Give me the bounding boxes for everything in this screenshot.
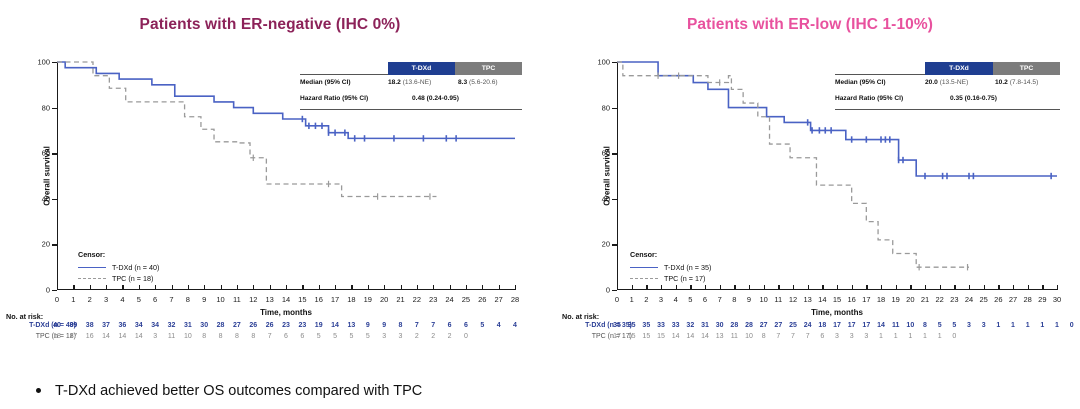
- x-axis-tick: [401, 285, 402, 290]
- x-axis-tick: [73, 285, 74, 290]
- risk-value-tpc: 17: [613, 333, 621, 340]
- x-axis-tick: [632, 285, 633, 290]
- x-axis-tick: [764, 285, 765, 290]
- risk-value-tpc: 6: [284, 333, 288, 340]
- stats-value-hazard-ratio: 0.35 (0.16-0.75): [950, 95, 997, 102]
- risk-value-tdxd: 1: [996, 322, 1000, 329]
- risk-value-tpc: 14: [102, 333, 110, 340]
- x-axis-tick-label: 18: [347, 295, 355, 304]
- x-axis-tick-label: 12: [249, 295, 257, 304]
- slide-root: Patients with ER-negative (IHC 0%) Overa…: [0, 0, 1080, 409]
- x-axis-tick: [319, 285, 320, 290]
- stats-header-row: T-DXd TPC: [300, 62, 522, 75]
- risk-value-tdxd: 17: [862, 322, 870, 329]
- x-axis-tick-label: 4: [120, 295, 124, 304]
- risk-value-tpc: 13: [716, 333, 724, 340]
- risk-table-er-negative: No. at risk: T-DXd (n = 40) 403938373634…: [4, 312, 534, 344]
- x-axis-tick-label: 2: [644, 295, 648, 304]
- risk-value-tdxd: 1: [1011, 322, 1015, 329]
- risk-row-tpc: TPC (n = 18) 181716141414311108888766555…: [4, 333, 534, 344]
- risk-table-title: No. at risk:: [4, 312, 534, 321]
- page-title-er-low: Patients with ER-low (IHC 1-10%): [540, 16, 1080, 34]
- risk-value-tpc: 6: [820, 333, 824, 340]
- x-axis-tick: [302, 285, 303, 290]
- risk-value-tdxd: 30: [716, 322, 724, 329]
- x-axis-tick: [734, 285, 735, 290]
- risk-value-tdxd: 27: [233, 322, 241, 329]
- y-axis-tick: [612, 153, 617, 154]
- stats-label-hazard-ratio: Hazard Ratio (95% CI): [835, 95, 903, 102]
- risk-value-tpc: 5: [366, 333, 370, 340]
- stats-value-median-tpc: 10.2 (7.8-14.5): [995, 79, 1038, 86]
- x-axis-tick-label: 10: [759, 295, 767, 304]
- risk-value-tdxd: 14: [877, 322, 885, 329]
- risk-value-tpc: 14: [686, 333, 694, 340]
- x-axis-tick: [940, 285, 941, 290]
- x-axis-tick-label: 15: [833, 295, 841, 304]
- x-axis-tick: [998, 285, 999, 290]
- risk-value-tpc: 3: [850, 333, 854, 340]
- y-axis-tick: [52, 199, 57, 200]
- x-axis-tick: [351, 285, 352, 290]
- risk-value-tdxd: 18: [818, 322, 826, 329]
- stats-table-er-negative: T-DXd TPC Median (95% CI) 18.2 (13.6-NE)…: [300, 62, 522, 110]
- x-axis-tick: [705, 285, 706, 290]
- risk-value-tdxd: 13: [348, 322, 356, 329]
- risk-value-tpc: 3: [382, 333, 386, 340]
- y-axis-tick: [612, 62, 617, 63]
- x-axis-tick: [253, 285, 254, 290]
- x-axis-tick-label: 3: [659, 295, 663, 304]
- x-axis-tick: [286, 285, 287, 290]
- risk-value-tpc: 0: [464, 333, 468, 340]
- x-axis-tick-label: 1: [630, 295, 634, 304]
- x-axis-tick-label: 0: [55, 295, 59, 304]
- x-axis-tick-label: 29: [1038, 295, 1046, 304]
- stats-bottom-rule: [835, 109, 1060, 110]
- risk-value-tdxd: 37: [102, 322, 110, 329]
- x-axis-tick: [417, 285, 418, 290]
- x-axis-tick: [384, 285, 385, 290]
- x-axis-tick-label: 10: [216, 295, 224, 304]
- x-axis-tick-label: 15: [298, 295, 306, 304]
- x-axis-tick: [237, 285, 238, 290]
- risk-value-tdxd: 6: [448, 322, 452, 329]
- risk-value-tdxd: 26: [249, 322, 257, 329]
- risk-value-tdxd: 31: [184, 322, 192, 329]
- x-axis-tick: [1028, 285, 1029, 290]
- solid-line-icon: [78, 267, 106, 269]
- risk-label-tdxd: T-DXd (n = 40): [4, 322, 76, 329]
- risk-label-tdxd: T-DXd (n = 35): [560, 322, 632, 329]
- x-axis-tick-label: 16: [315, 295, 323, 304]
- risk-value-tdxd: 34: [151, 322, 159, 329]
- risk-value-tdxd: 35: [642, 322, 650, 329]
- x-axis-tick: [433, 285, 434, 290]
- risk-value-tdxd: 6: [464, 322, 468, 329]
- x-axis-tick-label: 24: [445, 295, 453, 304]
- x-axis-tick: [499, 285, 500, 290]
- risk-value-tdxd: 31: [701, 322, 709, 329]
- x-axis-tick-label: 11: [233, 295, 241, 304]
- x-axis-tick: [778, 285, 779, 290]
- x-axis-tick-label: 16: [847, 295, 855, 304]
- dashed-line-icon: [630, 278, 658, 279]
- x-axis-tick-label: 2: [88, 295, 92, 304]
- risk-value-tpc: 15: [642, 333, 650, 340]
- risk-value-tpc: 2: [448, 333, 452, 340]
- median-tpc-ci: (5.6-20.6): [469, 79, 498, 86]
- x-axis-tick: [155, 285, 156, 290]
- bullet-dot-icon: [36, 388, 41, 393]
- risk-value-tpc: 14: [135, 333, 143, 340]
- risk-value-tdxd: 24: [804, 322, 812, 329]
- stats-table-er-low: T-DXd TPC Median (95% CI) 20.0 (13.5-NE)…: [835, 62, 1060, 110]
- stats-label-hazard-ratio: Hazard Ratio (95% CI): [300, 95, 368, 102]
- risk-value-tdxd: 1: [1026, 322, 1030, 329]
- x-axis-tick: [221, 285, 222, 290]
- y-axis-tick-label: 40: [42, 194, 50, 203]
- legend-item-tpc: TPC (n = 18): [78, 273, 159, 284]
- x-axis-tick: [793, 285, 794, 290]
- x-axis-tick: [368, 285, 369, 290]
- risk-value-tpc: 8: [235, 333, 239, 340]
- y-axis-tick-label: 0: [606, 286, 610, 295]
- risk-value-tpc: 1: [908, 333, 912, 340]
- x-axis-tick: [1042, 285, 1043, 290]
- risk-row-tdxd: T-DXd (n = 40) 4039383736343432313028272…: [4, 322, 534, 333]
- dashed-line-icon: [78, 278, 106, 279]
- summary-bullet-text: T-DXd achieved better OS outcomes compar…: [55, 383, 422, 399]
- risk-value-tpc: 3: [835, 333, 839, 340]
- y-axis-tick: [52, 244, 57, 245]
- x-axis-tick: [122, 285, 123, 290]
- risk-value-tdxd: 27: [760, 322, 768, 329]
- risk-value-tdxd: 30: [200, 322, 208, 329]
- risk-value-tdxd: 1: [1055, 322, 1059, 329]
- x-axis-tick: [482, 285, 483, 290]
- median-tdxd-number: 20.0: [925, 79, 938, 86]
- risk-value-tpc: 3: [153, 333, 157, 340]
- y-axis-tick-label: 20: [602, 240, 610, 249]
- risk-value-tpc: 11: [731, 333, 738, 340]
- x-axis-tick-label: 18: [877, 295, 885, 304]
- risk-value-tdxd: 9: [382, 322, 386, 329]
- risk-value-tdxd: 26: [266, 322, 274, 329]
- x-axis-tick: [106, 285, 107, 290]
- risk-value-tdxd: 4: [497, 322, 501, 329]
- x-axis-tick: [910, 285, 911, 290]
- x-axis-tick: [646, 285, 647, 290]
- legend-item-tdxd: T-DXd (n = 35): [630, 262, 711, 273]
- risk-value-tdxd: 8: [923, 322, 927, 329]
- censor-legend-title: Censor:: [78, 250, 159, 259]
- x-axis-tick-label: 9: [202, 295, 206, 304]
- risk-value-tpc: 7: [806, 333, 810, 340]
- risk-table-title: No. at risk:: [560, 312, 1076, 321]
- risk-value-tdxd: 34: [135, 322, 143, 329]
- y-axis-tick-label: 0: [46, 286, 50, 295]
- median-tpc-number: 8.3: [458, 79, 467, 86]
- x-axis-tick: [617, 285, 618, 290]
- risk-value-tdxd: 5: [480, 322, 484, 329]
- risk-value-tdxd: 17: [848, 322, 856, 329]
- risk-label-tpc: TPC (n = 18): [4, 333, 76, 340]
- risk-value-tdxd: 1: [1040, 322, 1044, 329]
- stats-value-median-tpc: 8.3 (5.6-20.6): [458, 79, 498, 86]
- x-axis-tick-label: 14: [818, 295, 826, 304]
- x-axis-tick: [969, 285, 970, 290]
- stats-value-median-tdxd: 18.2 (13.6-NE): [388, 79, 431, 86]
- risk-value-tdxd: 11: [892, 322, 899, 329]
- x-axis-tick-label: 7: [718, 295, 722, 304]
- risk-value-tdxd: 4: [513, 322, 517, 329]
- y-axis-tick-label: 60: [42, 149, 50, 158]
- x-axis-tick-label: 21: [921, 295, 929, 304]
- x-axis-tick: [466, 285, 467, 290]
- stats-value-median-tdxd: 20.0 (13.5-NE): [925, 79, 968, 86]
- risk-value-tpc: 8: [219, 333, 223, 340]
- panel-er-negative: Patients with ER-negative (IHC 0%) Overa…: [0, 0, 540, 365]
- legend-label-tpc: TPC (n = 18): [112, 274, 153, 283]
- x-axis-tick-label: 20: [906, 295, 914, 304]
- x-axis-tick-label: 8: [732, 295, 736, 304]
- x-axis-tick-label: 1: [71, 295, 75, 304]
- risk-value-tdxd: 23: [282, 322, 290, 329]
- x-axis-tick: [896, 285, 897, 290]
- x-axis-tick: [808, 285, 809, 290]
- stats-bottom-rule: [300, 109, 522, 110]
- risk-value-tpc: 1: [894, 333, 898, 340]
- x-axis-tick: [852, 285, 853, 290]
- x-axis-tick: [450, 285, 451, 290]
- risk-value-tpc: 2: [415, 333, 419, 340]
- risk-value-tpc: 6: [300, 333, 304, 340]
- risk-value-tdxd: 33: [672, 322, 680, 329]
- x-axis-tick-label: 26: [994, 295, 1002, 304]
- risk-label-tpc: TPC (n = 17): [560, 333, 632, 340]
- risk-value-tpc: 1: [879, 333, 883, 340]
- x-axis-tick-label: 9: [747, 295, 751, 304]
- page-title-er-negative: Patients with ER-negative (IHC 0%): [0, 16, 540, 34]
- stats-value-hazard-ratio: 0.48 (0.24-0.95): [412, 95, 459, 102]
- legend-item-tpc: TPC (n = 17): [630, 273, 711, 284]
- censor-legend-er-low: Censor: T-DXd (n = 35) TPC (n = 17): [630, 250, 711, 284]
- stats-row-hazard-ratio: Hazard Ratio (95% CI) 0.35 (0.16-0.75): [835, 91, 1060, 107]
- y-axis-tick-label: 40: [602, 194, 610, 203]
- risk-value-tdxd: 36: [119, 322, 127, 329]
- risk-value-tdxd: 35: [628, 322, 636, 329]
- risk-value-tdxd: 5: [952, 322, 956, 329]
- x-axis-tick: [1057, 285, 1058, 290]
- legend-label-tpc: TPC (n = 17): [664, 274, 705, 283]
- risk-value-tpc: 7: [791, 333, 795, 340]
- legend-label-tdxd: T-DXd (n = 35): [664, 263, 711, 272]
- stats-label-median: Median (95% CI): [835, 79, 886, 86]
- x-axis-tick-label: 19: [364, 295, 372, 304]
- risk-value-tpc: 1: [923, 333, 927, 340]
- risk-value-tdxd: 23: [298, 322, 306, 329]
- censor-legend-er-negative: Censor: T-DXd (n = 40) TPC (n = 18): [78, 250, 159, 284]
- risk-value-tpc: 5: [333, 333, 337, 340]
- y-axis-tick-label: 100: [37, 58, 50, 67]
- x-axis-tick: [1013, 285, 1014, 290]
- risk-value-tpc: 7: [776, 333, 780, 340]
- risk-value-tpc: 5: [349, 333, 353, 340]
- y-axis-tick: [52, 108, 57, 109]
- stats-col-tdxd: T-DXd: [925, 62, 993, 75]
- risk-value-tpc: 8: [762, 333, 766, 340]
- risk-value-tdxd: 14: [331, 322, 339, 329]
- risk-value-tpc: 14: [701, 333, 709, 340]
- x-axis-tick: [335, 285, 336, 290]
- y-axis-tick: [612, 108, 617, 109]
- risk-value-tpc: 15: [628, 333, 636, 340]
- risk-value-tpc: 8: [251, 333, 255, 340]
- y-axis-tick: [612, 199, 617, 200]
- risk-value-tpc: 14: [119, 333, 127, 340]
- x-axis-tick-label: 22: [413, 295, 421, 304]
- risk-value-tdxd: 25: [789, 322, 797, 329]
- risk-value-tdxd: 3: [967, 322, 971, 329]
- median-tdxd-number: 18.2: [388, 79, 401, 86]
- risk-value-tpc: 0: [952, 333, 956, 340]
- y-axis-tick: [52, 62, 57, 63]
- x-axis-tick-label: 30: [1053, 295, 1061, 304]
- x-axis-tick-label: 8: [186, 295, 190, 304]
- risk-value-tdxd: 8: [399, 322, 403, 329]
- risk-value-tpc: 3: [864, 333, 868, 340]
- median-tdxd-ci: (13.6-NE): [403, 79, 432, 86]
- stats-header-row: T-DXd TPC: [835, 62, 1060, 75]
- stats-row-hazard-ratio: Hazard Ratio (95% CI) 0.48 (0.24-0.95): [300, 91, 522, 107]
- stats-label-median: Median (95% CI): [300, 79, 351, 86]
- x-axis-tick-label: 25: [979, 295, 987, 304]
- x-axis-tick: [172, 285, 173, 290]
- risk-value-tdxd: 0: [1070, 322, 1074, 329]
- risk-value-tpc: 2: [431, 333, 435, 340]
- x-axis-tick-label: 6: [153, 295, 157, 304]
- risk-value-tdxd: 38: [86, 322, 94, 329]
- y-axis-tick-label: 80: [42, 103, 50, 112]
- x-axis-tick-label: 27: [494, 295, 502, 304]
- x-axis-tick-label: 21: [396, 295, 404, 304]
- y-axis-tick: [612, 244, 617, 245]
- stats-col-tdxd: T-DXd: [388, 62, 455, 75]
- x-axis-tick-label: 6: [703, 295, 707, 304]
- solid-line-icon: [630, 267, 658, 269]
- risk-value-tpc: 16: [86, 333, 94, 340]
- x-axis-tick: [749, 285, 750, 290]
- risk-value-tdxd: 32: [686, 322, 694, 329]
- risk-value-tpc: 3: [399, 333, 403, 340]
- x-axis-tick-label: 19: [891, 295, 899, 304]
- risk-value-tpc: 1: [938, 333, 942, 340]
- x-axis-tick: [661, 285, 662, 290]
- x-axis-tick: [139, 285, 140, 290]
- x-axis-tick-label: 4: [674, 295, 678, 304]
- y-axis-tick: [612, 290, 617, 291]
- x-axis-tick-label: 7: [169, 295, 173, 304]
- x-axis-tick: [822, 285, 823, 290]
- risk-value-tdxd: 35: [613, 322, 621, 329]
- risk-value-tpc: 10: [745, 333, 753, 340]
- x-axis-tick-label: 23: [950, 295, 958, 304]
- risk-value-tdxd: 10: [906, 322, 914, 329]
- risk-value-tpc: 14: [672, 333, 680, 340]
- x-axis-tick: [984, 285, 985, 290]
- x-axis-tick-label: 28: [1023, 295, 1031, 304]
- x-axis-tick: [676, 285, 677, 290]
- risk-value-tdxd: 9: [366, 322, 370, 329]
- x-axis-tick: [720, 285, 721, 290]
- x-axis-tick-label: 13: [265, 295, 273, 304]
- risk-value-tpc: 15: [657, 333, 665, 340]
- x-axis-tick-label: 12: [789, 295, 797, 304]
- x-axis-tick-label: 26: [478, 295, 486, 304]
- y-axis-tick-label: 20: [42, 240, 50, 249]
- x-axis-tick-label: 23: [429, 295, 437, 304]
- x-axis-tick-label: 27: [1009, 295, 1017, 304]
- risk-value-tdxd: 19: [315, 322, 323, 329]
- x-axis-tick: [954, 285, 955, 290]
- x-axis-tick: [925, 285, 926, 290]
- stats-row-median: Median (95% CI) 18.2 (13.6-NE) 8.3 (5.6-…: [300, 75, 522, 91]
- risk-value-tpc: 8: [202, 333, 206, 340]
- risk-value-tdxd: 28: [217, 322, 225, 329]
- stats-col-tpc: TPC: [455, 62, 522, 75]
- x-axis-tick: [204, 285, 205, 290]
- x-axis-tick-label: 24: [965, 295, 973, 304]
- x-axis-tick-label: 3: [104, 295, 108, 304]
- x-axis-tick: [188, 285, 189, 290]
- x-axis-tick: [837, 285, 838, 290]
- stats-col-tpc: TPC: [993, 62, 1060, 75]
- median-tpc-number: 10.2: [995, 79, 1008, 86]
- risk-value-tpc: 11: [168, 333, 175, 340]
- x-axis-tick: [515, 285, 516, 290]
- risk-value-tpc: 17: [69, 333, 77, 340]
- censor-legend-title: Censor:: [630, 250, 711, 259]
- x-axis-tick-label: 17: [862, 295, 870, 304]
- risk-value-tdxd: 3: [982, 322, 986, 329]
- legend-item-tdxd: T-DXd (n = 40): [78, 262, 159, 273]
- median-tdxd-ci: (13.5-NE): [940, 79, 969, 86]
- x-axis-tick: [690, 285, 691, 290]
- risk-value-tdxd: 39: [69, 322, 77, 329]
- risk-value-tpc: 5: [317, 333, 321, 340]
- risk-value-tdxd: 7: [415, 322, 419, 329]
- x-axis-tick-label: 11: [774, 295, 782, 304]
- risk-value-tdxd: 28: [730, 322, 738, 329]
- risk-value-tpc: 10: [184, 333, 192, 340]
- risk-value-tpc: 18: [53, 333, 61, 340]
- risk-value-tdxd: 17: [833, 322, 841, 329]
- x-axis-tick-label: 14: [282, 295, 290, 304]
- median-tpc-ci: (7.8-14.5): [1010, 79, 1039, 86]
- y-axis-tick: [52, 153, 57, 154]
- risk-row-tpc: TPC (n = 17) 171515151414141311108777633…: [560, 333, 1076, 344]
- x-axis-tick-label: 13: [803, 295, 811, 304]
- x-axis-tick-label: 28: [511, 295, 519, 304]
- risk-value-tdxd: 5: [938, 322, 942, 329]
- x-axis-tick-label: 5: [688, 295, 692, 304]
- y-axis-tick-label: 80: [602, 103, 610, 112]
- risk-value-tdxd: 40: [53, 322, 61, 329]
- risk-value-tdxd: 28: [745, 322, 753, 329]
- x-axis-tick: [90, 285, 91, 290]
- legend-label-tdxd: T-DXd (n = 40): [112, 263, 159, 272]
